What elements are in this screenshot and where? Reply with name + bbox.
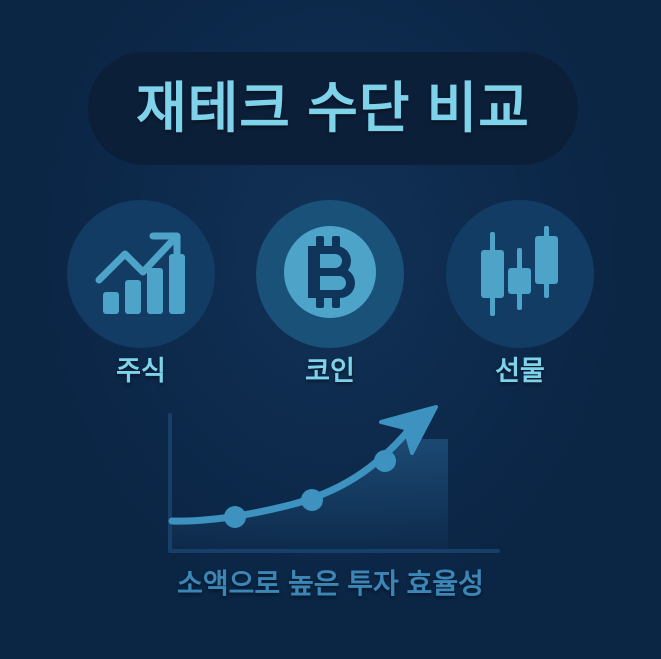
comparison-label-coin: 코인 bbox=[255, 358, 405, 385]
icon-circle-coin bbox=[256, 200, 404, 348]
growth-chart bbox=[150, 395, 520, 565]
footer-caption: 소액으로 높은 투자 효율성 bbox=[0, 570, 661, 598]
bar-chart-growth-icon bbox=[93, 224, 189, 325]
chart-data-point bbox=[224, 506, 246, 528]
bitcoin-coin-icon bbox=[280, 222, 380, 327]
infographic-canvas: 재테크 수단 비교 주식 bbox=[0, 0, 661, 659]
comparison-label-futures: 선물 bbox=[445, 358, 595, 385]
comparison-icon-row: 주식 bbox=[0, 200, 661, 400]
comparison-label-stocks: 주식 bbox=[66, 358, 216, 385]
chart-data-point bbox=[374, 450, 396, 472]
chart-data-point bbox=[301, 489, 323, 511]
comparison-item-stocks[interactable]: 주식 bbox=[66, 200, 216, 385]
icon-circle-stocks bbox=[67, 200, 215, 348]
comparison-item-futures[interactable]: 선물 bbox=[445, 200, 595, 385]
title-banner: 재테크 수단 비교 bbox=[88, 52, 578, 165]
candlestick-chart-icon bbox=[472, 224, 568, 325]
chart-y-axis bbox=[168, 413, 172, 553]
icon-circle-futures bbox=[446, 200, 594, 348]
chart-x-axis bbox=[168, 549, 500, 553]
page-title: 재테크 수단 비교 bbox=[136, 81, 530, 136]
comparison-item-coin[interactable]: 코인 bbox=[255, 200, 405, 385]
